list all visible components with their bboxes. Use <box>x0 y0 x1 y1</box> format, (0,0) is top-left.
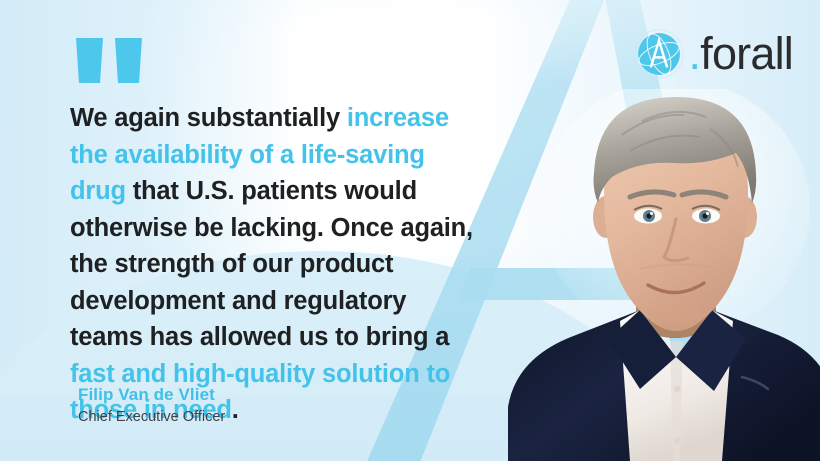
quote-text: We again substantially increase the avai… <box>70 100 482 429</box>
brand-dot: . <box>689 28 701 79</box>
executive-portrait <box>490 89 820 461</box>
brand-name: forall <box>700 28 793 79</box>
attribution-name: Filip Van de Vliet <box>78 384 225 406</box>
quote-segment-2: that U.S. patients would otherwise be la… <box>70 177 473 351</box>
quote-segment-4: . <box>232 396 239 424</box>
brand-wordmark: .forall <box>689 30 793 78</box>
brand-logo[interactable]: .forall <box>631 26 793 82</box>
quote-bar-left <box>76 38 103 83</box>
quote-bar-right <box>115 38 142 83</box>
a-globe-monogram-icon <box>631 26 687 82</box>
attribution-role: Chief Executive Officer <box>78 407 225 427</box>
quote-card: We again substantially increase the avai… <box>0 0 820 461</box>
quotation-mark-icon <box>76 38 142 83</box>
attribution: Filip Van de Vliet Chief Executive Offic… <box>78 384 225 427</box>
quote-segment-0: We again substantially <box>70 104 347 132</box>
